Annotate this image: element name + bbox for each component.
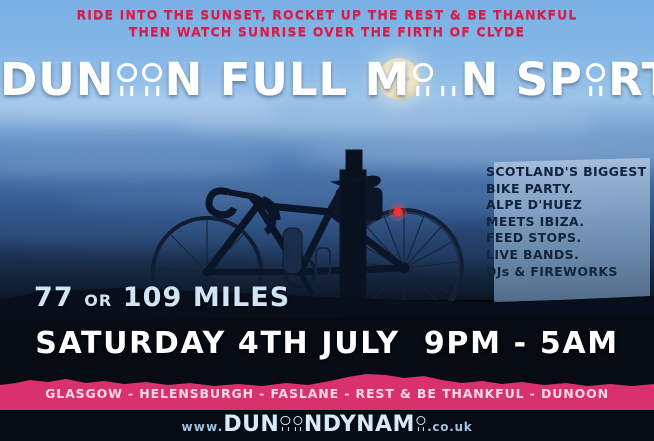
distance-unit: MILES xyxy=(193,282,290,313)
url-suffix: .co.uk xyxy=(427,420,472,434)
url-domain-part-2: NDYNAM xyxy=(304,412,415,437)
title-o-glyph xyxy=(583,61,608,102)
url-o-glyph xyxy=(292,414,304,434)
website-url: www.DUNNDYNAM.co.uk xyxy=(0,412,654,437)
feature-item: FEED STOPS. xyxy=(486,230,646,247)
url-prefix: www. xyxy=(182,420,224,434)
title-part-3: N SP xyxy=(461,53,583,106)
route-text: GLASGOW - HELENSBURGH - FASLANE - REST &… xyxy=(0,386,654,401)
event-datetime: SATURDAY 4TH JULY 9PM - 5AM xyxy=(0,326,654,361)
feature-item: ALPE D'HUEZ xyxy=(486,197,646,214)
url-domain-part-1: DUN xyxy=(223,412,279,437)
url-o-glyph xyxy=(415,414,427,434)
distance-long: 109 xyxy=(123,282,183,313)
url-o-glyph xyxy=(279,414,291,434)
feature-item: LIVE BANDS. xyxy=(486,247,646,264)
title-o-glyph xyxy=(139,61,164,102)
event-date: SATURDAY 4TH JULY xyxy=(35,326,399,361)
tagline: RIDE INTO THE SUNSET, ROCKET UP THE REST… xyxy=(0,6,654,40)
event-time: 9PM - 5AM xyxy=(424,326,619,361)
distance-joiner: OR xyxy=(84,291,112,310)
title-o-moon-glyph xyxy=(435,61,460,102)
feature-item: BIKE PARTY. xyxy=(486,181,646,198)
tagline-line-1: RIDE INTO THE SUNSET, ROCKET UP THE REST… xyxy=(0,6,654,23)
event-poster: RIDE INTO THE SUNSET, ROCKET UP THE REST… xyxy=(0,0,654,441)
distance-short: 77 xyxy=(34,282,74,313)
title-part-1: DUN xyxy=(0,53,114,106)
features-list: SCOTLAND'S BIGGEST BIKE PARTY. ALPE D'HU… xyxy=(486,164,646,280)
distance-options: 77 OR 109 MILES xyxy=(34,282,290,313)
title-part-4: RTIVE xyxy=(608,53,654,106)
feature-item: DJs & FIREWORKS xyxy=(486,264,646,281)
title-part-2: N FULL M xyxy=(165,53,411,106)
title-o-glyph xyxy=(114,61,139,102)
title-o-glyph xyxy=(410,61,435,102)
page-title: DUNN FULL MN SPRTIVE xyxy=(0,55,654,105)
feature-item: MEETS IBIZA. xyxy=(486,214,646,231)
feature-item: SCOTLAND'S BIGGEST xyxy=(486,164,646,181)
route-band: GLASGOW - HELENSBURGH - FASLANE - REST &… xyxy=(0,374,654,410)
tagline-line-2: THEN WATCH SUNRISE OVER THE FIRTH OF CLY… xyxy=(0,23,654,40)
